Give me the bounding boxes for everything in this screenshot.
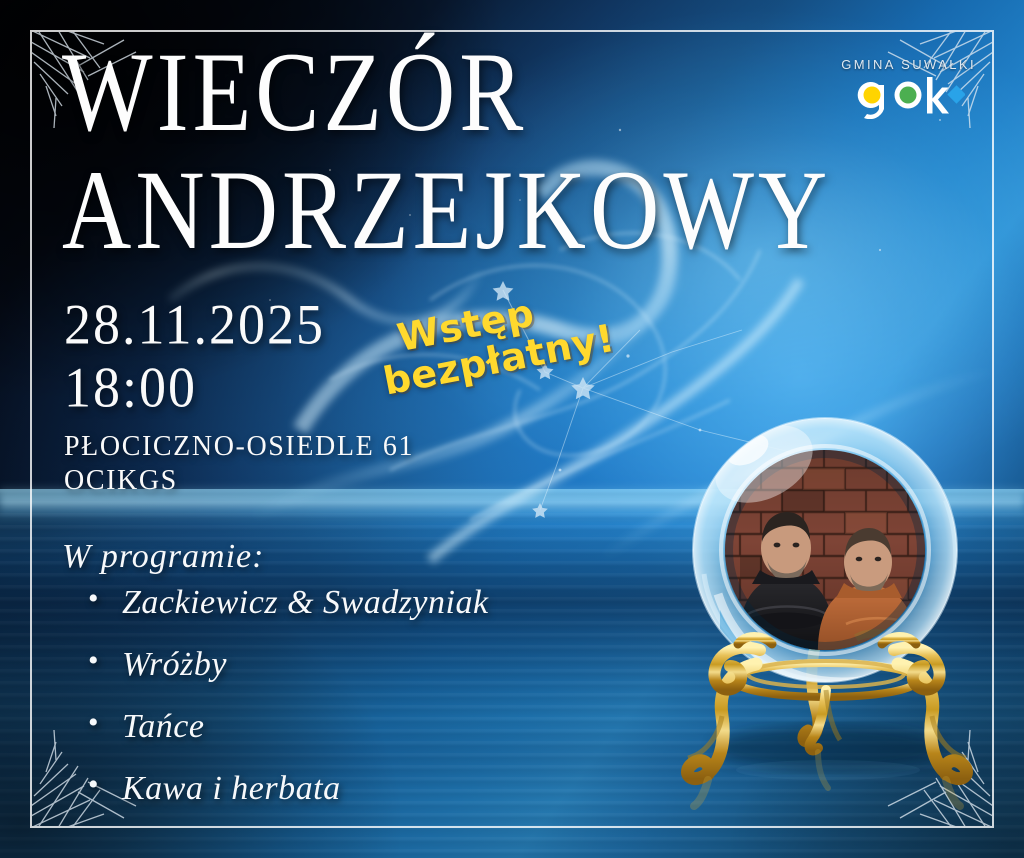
title-line-2: ANDRZEJKOWY bbox=[62, 156, 831, 265]
gok-logo[interactable]: GMINA SUWAŁKI bbox=[841, 58, 976, 119]
poster-root: GMINA SUWAŁKI WIECZÓR ANDRZEJKOWY 28.11.… bbox=[0, 0, 1024, 858]
crystal-ball-image bbox=[660, 398, 990, 818]
event-time: 18:00 bbox=[64, 359, 414, 417]
gok-wordmark-icon bbox=[841, 75, 976, 119]
program-heading: W programie: bbox=[62, 538, 489, 576]
event-details: 28.11.2025 18:00 PŁOCICZNO-OSIEDLE 61 OC… bbox=[64, 296, 414, 498]
list-item: Tańce bbox=[88, 710, 489, 744]
logo-municipality-label: GMINA SUWAŁKI bbox=[841, 58, 976, 71]
list-item: Zackiewicz & Swadzyniak bbox=[88, 586, 489, 620]
poster-title: WIECZÓR ANDRZEJKOWY bbox=[62, 38, 831, 248]
event-address-line-1: PŁOCICZNO-OSIEDLE 61 bbox=[64, 430, 414, 464]
program-list: Zackiewicz & Swadzyniak Wróżby Tańce Kaw… bbox=[62, 586, 489, 806]
event-address-line-2: OCIKGS bbox=[64, 464, 414, 498]
event-date: 28.11.2025 bbox=[64, 296, 414, 354]
list-item: Wróżby bbox=[88, 648, 489, 682]
list-item: Kawa i herbata bbox=[88, 772, 489, 806]
title-line-1: WIECZÓR bbox=[62, 38, 831, 147]
program-section: W programie: Zackiewicz & Swadzyniak Wró… bbox=[62, 538, 489, 834]
